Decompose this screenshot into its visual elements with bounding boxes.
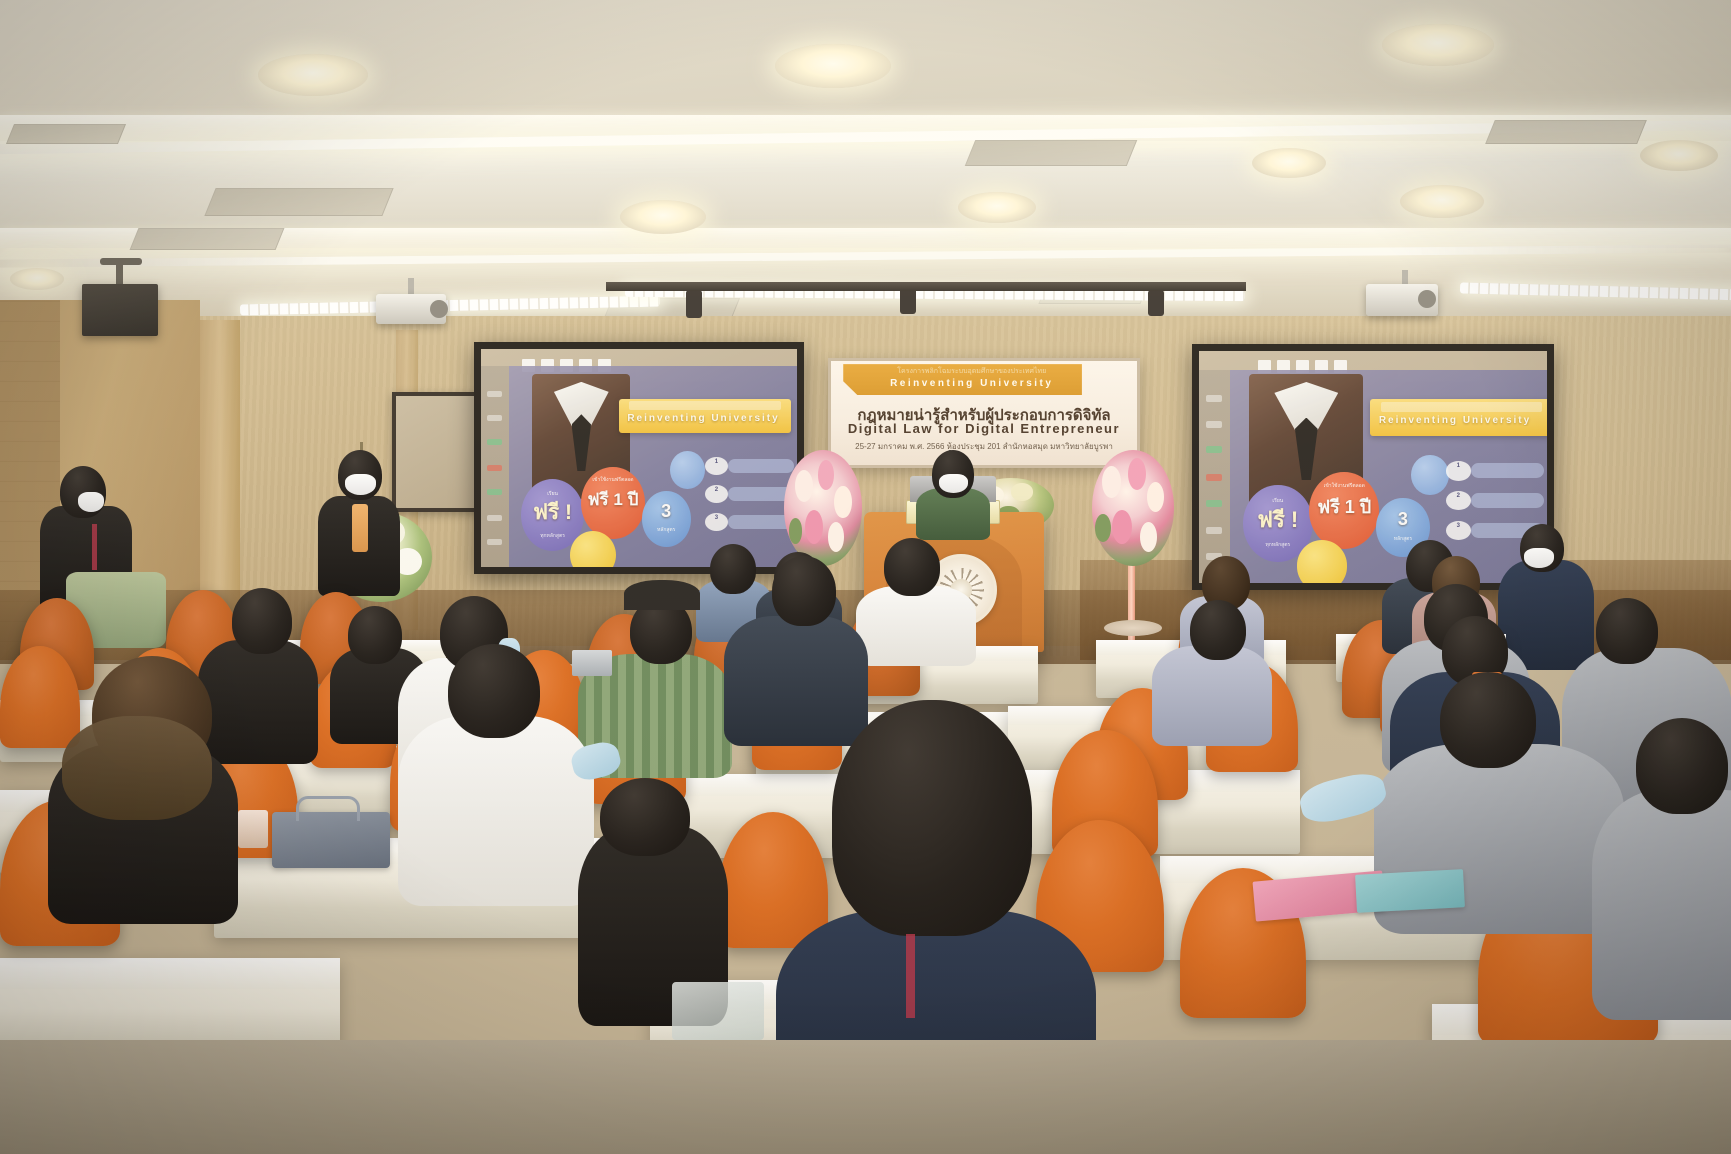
staff-lanyard bbox=[92, 524, 97, 570]
left-projection-screen: Reinventing University เรียน ฟรี ! ทุกหล… bbox=[474, 342, 804, 574]
slide-step-3-left: 3 bbox=[705, 513, 728, 531]
presenter-necktie bbox=[352, 504, 368, 552]
poster-title-english: Digital Law for Digital Entrepreneur bbox=[840, 421, 1128, 436]
slide-bubble-2-right: เข้าใช้งานฟรีตลอด ฟรี 1 ปี bbox=[1309, 472, 1379, 549]
flower-stand-base-right bbox=[1104, 620, 1162, 636]
left-screen-taskbar bbox=[481, 366, 509, 567]
track-spotlight-2 bbox=[900, 288, 916, 314]
slide-step-2-right: 2 bbox=[1446, 491, 1471, 510]
table-item-bag-handle bbox=[296, 796, 360, 821]
right-screen-taskbar bbox=[1199, 370, 1230, 583]
table-item-bottle bbox=[238, 810, 268, 848]
slide-pill-1-right bbox=[1471, 463, 1544, 478]
slide-ribbon-right: Reinventing University bbox=[1370, 399, 1547, 435]
ceiling-air-vent-6 bbox=[1485, 120, 1647, 144]
table-item-teal-document bbox=[1355, 869, 1465, 913]
presenter-face-mask bbox=[345, 474, 376, 495]
slide-bubble-5-right bbox=[1411, 455, 1449, 496]
poster-ribbon-en: Reinventing University bbox=[862, 378, 1082, 389]
ceiling-downlight-4 bbox=[620, 200, 706, 234]
track-spotlight-3 bbox=[1148, 290, 1164, 316]
ceiling-downlight-2 bbox=[775, 44, 891, 88]
projector-lens-left bbox=[430, 300, 448, 318]
slide-ribbon-left: Reinventing University bbox=[619, 399, 792, 433]
lectern-person-mask bbox=[939, 474, 968, 493]
slide-step-1-right: 1 bbox=[1446, 461, 1471, 480]
ceiling-downlight-1 bbox=[258, 54, 368, 96]
slide-step-1-left: 1 bbox=[705, 457, 728, 475]
table-item-laptop bbox=[572, 650, 612, 676]
poster-ribbon-thai: โครงการพลิกโฉมระบบอุดมศึกษาของประเทศไทย bbox=[862, 366, 1082, 377]
ceiling-air-vent-1 bbox=[204, 188, 393, 216]
speaker-mount-plate bbox=[100, 258, 142, 265]
projector-lens-right bbox=[1418, 290, 1436, 308]
right-screen-slide: Reinventing University เรียน ฟรี ! ทุกหล… bbox=[1230, 370, 1547, 583]
ceiling-downlight-7 bbox=[958, 192, 1036, 223]
ceiling-air-vent-5 bbox=[965, 140, 1138, 166]
track-spotlight-1 bbox=[686, 290, 702, 318]
left-screen-surface: Reinventing University เรียน ฟรี ! ทุกหล… bbox=[481, 349, 797, 567]
slide-pill-2-right bbox=[1471, 493, 1544, 508]
slide-bubble-3-left: 3 หลักสูตร bbox=[642, 491, 691, 547]
right-wall-person-mask bbox=[1524, 548, 1554, 568]
ceiling-downlight-8 bbox=[1640, 140, 1718, 171]
lighting-track-bar bbox=[606, 282, 1246, 291]
ceiling-downlight-5 bbox=[1400, 185, 1484, 218]
slide-bubble-2-left: เข้าใช้งานฟรีตลอด ฟรี 1 ปี bbox=[581, 467, 644, 539]
right-projection-screen: Reinventing University เรียน ฟรี ! ทุกหล… bbox=[1192, 344, 1554, 590]
slide-bubble-4-right bbox=[1297, 540, 1348, 583]
slide-ribbon-en-right: Reinventing University bbox=[1379, 415, 1544, 426]
right-screen-surface: Reinventing University เรียน ฟรี ! ทุกหล… bbox=[1199, 351, 1547, 583]
floor bbox=[0, 1040, 1731, 1154]
projector-mount-left bbox=[408, 278, 414, 294]
conference-hall-photo: Reinventing University เรียน ฟรี ! ทุกหล… bbox=[0, 0, 1731, 1154]
speaker-mount-arm bbox=[116, 262, 123, 286]
slide-step-3-right: 3 bbox=[1446, 521, 1471, 540]
slide-bubble-5-left bbox=[670, 451, 705, 489]
ceiling-downlight-6 bbox=[1252, 148, 1326, 178]
ceiling-downlight-9 bbox=[10, 268, 64, 290]
slide-ribbon-thai-left bbox=[629, 401, 781, 410]
projector-mount-right bbox=[1402, 270, 1408, 284]
person-f1-hair bbox=[62, 716, 212, 820]
ceiling-air-vent-3 bbox=[6, 124, 126, 144]
staff-face-mask bbox=[78, 492, 104, 512]
ceiling-air-vent-2 bbox=[130, 228, 285, 250]
ceiling-loudspeaker bbox=[82, 284, 158, 336]
slide-step-2-left: 2 bbox=[705, 485, 728, 503]
ceiling-downlight-3 bbox=[1382, 24, 1494, 66]
table-item-clear-object bbox=[672, 982, 764, 1040]
left-screen-slide: Reinventing University เรียน ฟรี ! ทุกหล… bbox=[509, 366, 797, 567]
slide-ribbon-en-left: Reinventing University bbox=[627, 413, 782, 424]
slide-ribbon-thai-right bbox=[1381, 402, 1543, 411]
poster-date-venue: 25-27 มกราคม พ.ศ. 2566 ห้องประชุม 201 สำ… bbox=[840, 440, 1128, 453]
